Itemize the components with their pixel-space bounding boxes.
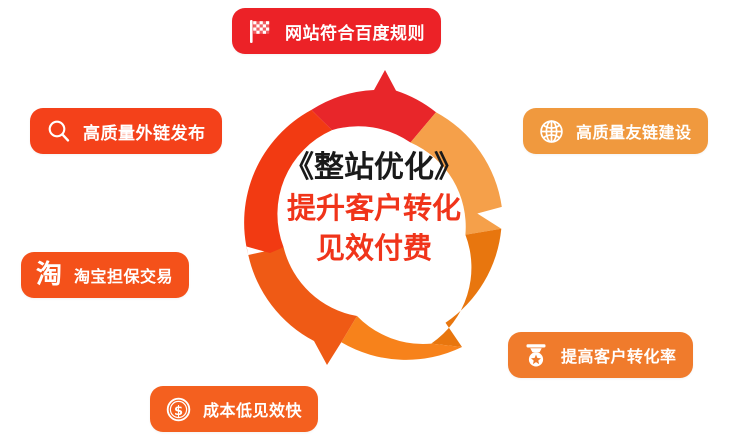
badge-outlink[interactable]: 高质量外链发布 (30, 108, 222, 154)
dollar-coin-icon: $ (163, 394, 193, 424)
badge-label: 高质量外链发布 (83, 119, 206, 144)
taobao-icon: 淘 (34, 260, 64, 290)
badge-label: 提高客户转化率 (561, 343, 677, 367)
badge-lowcost[interactable]: $ 成本低见效快 (150, 386, 318, 432)
globe-icon (536, 116, 566, 146)
svg-text:$: $ (173, 404, 182, 419)
ring-segment-top (311, 70, 436, 143)
search-icon (43, 116, 73, 146)
ring-segment-upper-right (411, 112, 502, 235)
badge-label: 网站符合百度规则 (285, 19, 425, 44)
badge-label: 高质量友链建设 (576, 119, 692, 143)
ring-segment-upper-left (244, 110, 332, 255)
ring-segment-lower-right (431, 229, 501, 347)
badge-conversion[interactable]: 提高客户转化率 (508, 332, 693, 378)
badge-label: 成本低见效快 (203, 397, 302, 421)
ring-segment-lower-left (248, 247, 357, 365)
badge-taobao[interactable]: 淘 淘宝担保交易 (21, 252, 189, 298)
checkered-flag-icon (245, 16, 275, 46)
medal-icon (521, 340, 551, 370)
taobao-glyph: 淘 (36, 262, 62, 288)
infographic-canvas: 《整站优化》 提升客户转化 见效付费 (0, 0, 730, 436)
cycle-ring (229, 58, 519, 378)
badge-friendlink[interactable]: 高质量友链建设 (523, 108, 708, 154)
badge-label: 淘宝担保交易 (74, 263, 173, 287)
badge-baidu-rules[interactable]: 网站符合百度规则 (232, 8, 441, 54)
